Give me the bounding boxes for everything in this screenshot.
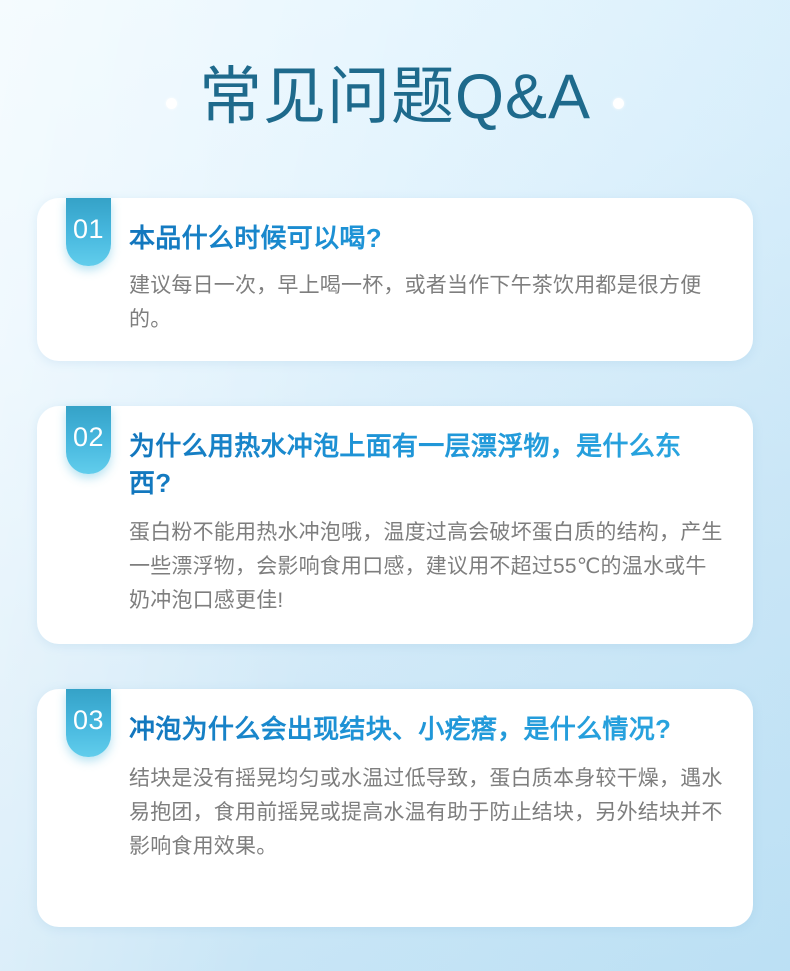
decorative-dot-right [613, 98, 624, 109]
faq-item-03[interactable]: 03 冲泡为什么会出现结块、小疙瘩，是什么情况? 结块是没有摇晃均匀或水温过低导… [37, 689, 753, 927]
faq-item-02[interactable]: 02 为什么用热水冲泡上面有一层漂浮物，是什么东西? 蛋白粉不能用热水冲泡哦，温… [37, 406, 753, 644]
decorative-dot-left [166, 98, 177, 109]
faq-number-badge-01: 01 [66, 198, 111, 266]
faq-answer-01: 建议每日一次，早上喝一杯，或者当作下午茶饮用都是很方便的。 [129, 269, 723, 337]
page-header: 常见问题Q&A [0, 0, 790, 198]
faq-question-03: 冲泡为什么会出现结块、小疙瘩，是什么情况? [129, 711, 723, 748]
faq-question-01: 本品什么时候可以喝? [129, 220, 723, 257]
faq-question-02: 为什么用热水冲泡上面有一层漂浮物，是什么东西? [129, 428, 723, 502]
faq-number-badge-03: 03 [66, 689, 111, 757]
page-title: 常见问题Q&A [199, 66, 591, 133]
faq-page: 常见问题Q&A 01 本品什么时候可以喝? 建议每日一次，早上喝一杯，或者当作下… [0, 0, 790, 971]
faq-item-01[interactable]: 01 本品什么时候可以喝? 建议每日一次，早上喝一杯，或者当作下午茶饮用都是很方… [37, 198, 753, 361]
faq-answer-03: 结块是没有摇晃均匀或水温过低导致，蛋白质本身较干燥，遇水易抱团，食用前摇晃或提高… [129, 762, 723, 864]
faq-number-badge-02: 02 [66, 406, 111, 474]
faq-answer-02: 蛋白粉不能用热水冲泡哦，温度过高会破坏蛋白质的结构，产生一些漂浮物，会影响食用口… [129, 516, 723, 618]
faq-list: 01 本品什么时候可以喝? 建议每日一次，早上喝一杯，或者当作下午茶饮用都是很方… [0, 198, 790, 927]
